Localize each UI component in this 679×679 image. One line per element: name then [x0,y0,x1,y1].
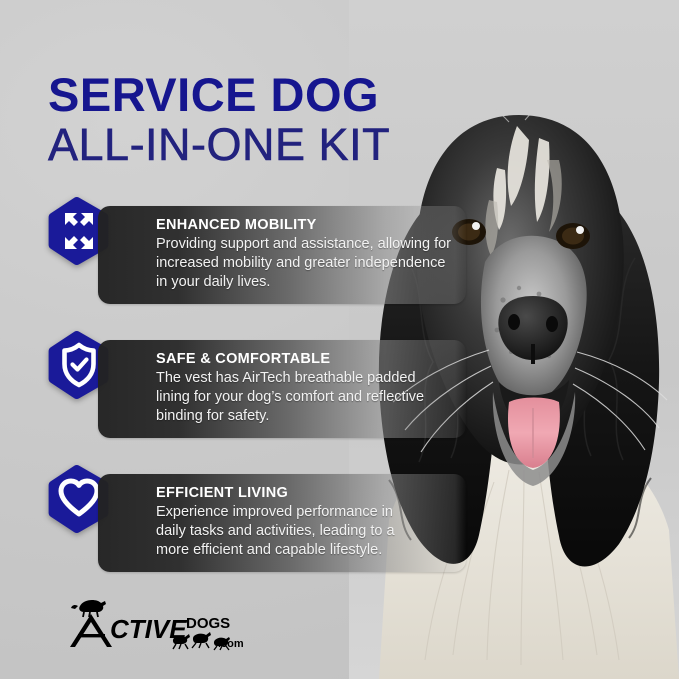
feature-body-line: daily tasks and activities, leading to a [156,522,460,541]
feature-body: The vest has AirTech breathable padded l… [156,369,460,426]
product-infographic: SERVICE DOG ALL-IN-ONE KIT ENHANCED MOBI… [0,0,679,679]
feature-body: Providing support and assistance, allowi… [156,235,460,292]
feature-panel: ENHANCED MOBILITY Providing support and … [98,206,466,304]
feature-body-line: Providing support and assistance, allowi… [156,235,460,254]
activedogs-logo[interactable]: CTIVE DOGS .com [58,592,248,652]
headline-secondary: ALL-IN-ONE KIT [48,121,518,168]
feature-body-line: Experience improved performance in [156,503,460,522]
feature-panel: SAFE & COMFORTABLE The vest has AirTech … [98,340,466,438]
feature-body-line: binding for safety. [156,407,460,426]
logo-word-com: .com [218,638,244,650]
feature-body-line: increased mobility and greater independe… [156,254,460,273]
feature-title: EFFICIENT LIVING [156,485,460,501]
feature-title: ENHANCED MOBILITY [156,217,460,233]
feature-body-line: lining for your dog’s comfort and reflec… [156,388,460,407]
headline-primary: SERVICE DOG [48,72,518,117]
logo-word-dogs: DOGS [186,615,230,632]
feature-body-line: The vest has AirTech breathable padded [156,369,460,388]
feature-body-line: more efficient and capable lifestyle. [156,541,460,560]
feature-card-enhanced-mobility: ENHANCED MOBILITY Providing support and … [48,196,468,312]
feature-card-safe-comfortable: SAFE & COMFORTABLE The vest has AirTech … [48,330,468,446]
feature-title: SAFE & COMFORTABLE [156,351,460,367]
feature-card-efficient-living: EFFICIENT LIVING Experience improved per… [48,464,468,580]
feature-panel: EFFICIENT LIVING Experience improved per… [98,474,466,572]
feature-body-line: in your daily lives. [156,273,460,292]
headline-block: SERVICE DOG ALL-IN-ONE KIT [48,72,518,168]
feature-body: Experience improved performance in daily… [156,503,460,560]
